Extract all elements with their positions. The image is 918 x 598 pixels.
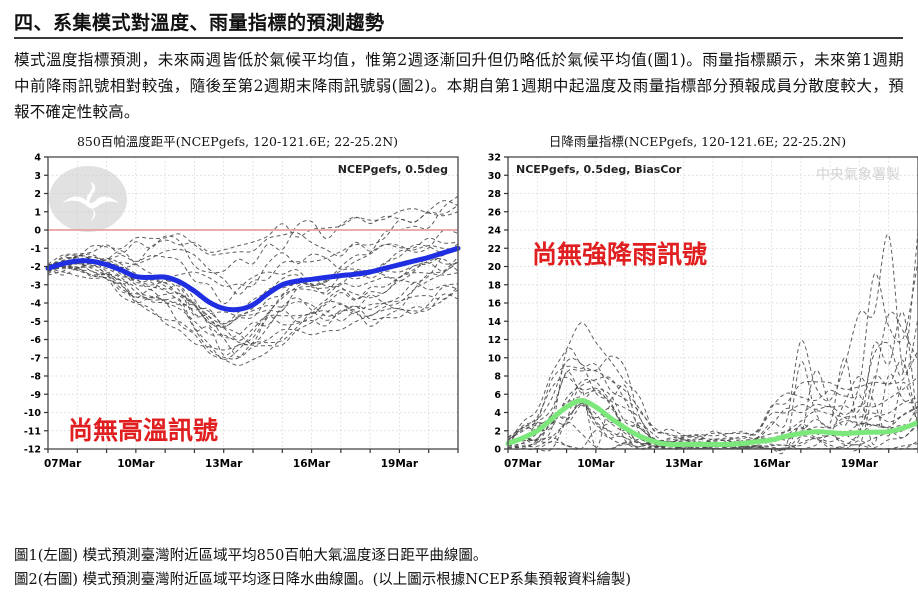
y-tick-label: -4 (30, 299, 41, 310)
y-tick-label: 0 (34, 226, 41, 237)
chart-annotation: 尚無高溫訊號 (68, 416, 218, 445)
y-tick-label: -11 (24, 426, 41, 437)
chart-title-left: 850百帕溫度距平(NCEPgefs, 120-121.6E; 22-25.2N… (10, 133, 465, 151)
y-tick-label: 10 (488, 353, 502, 364)
charts-container: 850百帕溫度距平(NCEPgefs, 120-121.6E; 22-25.2N… (10, 133, 908, 491)
x-tick-label: 16Mar (753, 458, 791, 470)
y-tick-label: 1 (34, 207, 41, 218)
caption-figure-2: 圖2(右圖) 模式預測臺灣附近區域平均逐日降水曲線圖。(以上圖示根據NCEP系集… (14, 568, 904, 592)
y-tick-label: -9 (30, 390, 41, 401)
y-tick-label: 6 (494, 390, 501, 401)
y-tick-label: 12 (488, 335, 501, 346)
title-divider (14, 37, 903, 39)
chart-annotation: 尚無強降雨訊號 (532, 240, 707, 269)
daily-rainfall-plot: 3230282624222018161412108642007Mar10Mar1… (470, 151, 918, 491)
y-tick-label: 24 (488, 226, 502, 237)
x-tick-label: 10Mar (117, 458, 155, 470)
y-tick-label: -7 (30, 353, 41, 364)
y-tick-label: -10 (24, 408, 42, 419)
figure-captions: 圖1(左圖) 模式預測臺灣附近區域平均850百帕大氣溫度逐日距平曲線圖。 圖2(… (0, 544, 918, 592)
y-tick-label: 2 (494, 426, 501, 437)
chart-corner-label: NCEPgefs, 0.5deg (338, 163, 448, 176)
y-axis: 32302826242220181614121086420 (488, 153, 508, 456)
y-tick-label: -1 (30, 244, 41, 255)
x-tick-label: 19Mar (841, 458, 879, 470)
x-tick-label: 07Mar (44, 458, 82, 470)
y-tick-label: -8 (30, 372, 41, 383)
daily-rainfall-chart: 日降雨量指標(NCEPgefs, 120-121.6E; 22-25.2N) 3… (470, 133, 918, 491)
x-tick-label: 07Mar (504, 458, 542, 470)
page-title: 四、系集模式對溫度、雨量指標的預測趨勢 (14, 8, 908, 35)
y-tick-label: 4 (34, 153, 41, 164)
y-tick-label: 0 (494, 445, 501, 456)
y-tick-label: 28 (488, 189, 502, 200)
x-tick-label: 13Mar (665, 458, 703, 470)
x-tick-label: 10Mar (577, 458, 615, 470)
y-tick-label: 26 (488, 207, 502, 218)
report-page: 四、系集模式對溫度、雨量指標的預測趨勢 模式溫度指標預測，未來兩週皆低於氣候平均… (0, 8, 918, 598)
body-paragraph: 模式溫度指標預測，未來兩週皆低於氣候平均值，惟第2週逐漸回升但仍略低於氣候平均值… (14, 47, 904, 125)
y-tick-label: 16 (488, 299, 502, 310)
x-tick-label: 13Mar (205, 458, 243, 470)
agency-watermark: 中央氣象署製 (816, 167, 900, 183)
x-tick-label: 16Mar (293, 458, 331, 470)
y-tick-label: -5 (30, 317, 41, 328)
temperature-anomaly-plot: 43210-1-2-3-4-5-6-7-8-9-10-11-1207Mar10M… (10, 151, 465, 491)
chart-corner-label: NCEPgefs, 0.5deg, BiasCor (516, 163, 682, 176)
y-axis: 43210-1-2-3-4-5-6-7-8-9-10-11-12 (24, 153, 48, 456)
y-tick-label: 22 (488, 244, 501, 255)
y-tick-label: 14 (488, 317, 502, 328)
x-tick-label: 19Mar (381, 458, 419, 470)
chart-title-right: 日降雨量指標(NCEPgefs, 120-121.6E; 22-25.2N) (470, 133, 918, 151)
y-tick-label: 32 (488, 153, 501, 164)
y-tick-label: -3 (30, 280, 41, 291)
y-tick-label: 2 (34, 189, 41, 200)
y-tick-label: 30 (488, 171, 502, 182)
cwa-logo-watermark (49, 166, 127, 232)
x-axis: 07Mar10Mar13Mar16Mar19Mar (44, 449, 458, 470)
y-tick-label: -12 (24, 445, 41, 456)
x-axis: 07Mar10Mar13Mar16Mar19Mar (504, 449, 918, 470)
y-tick-label: 20 (488, 262, 502, 273)
y-tick-label: 4 (494, 408, 501, 419)
caption-figure-1: 圖1(左圖) 模式預測臺灣附近區域平均850百帕大氣溫度逐日距平曲線圖。 (14, 544, 904, 568)
temperature-anomaly-chart: 850百帕溫度距平(NCEPgefs, 120-121.6E; 22-25.2N… (10, 133, 465, 491)
y-tick-label: -6 (30, 335, 41, 346)
y-tick-label: 8 (494, 372, 501, 383)
y-tick-label: 3 (34, 171, 41, 182)
y-tick-label: -2 (30, 262, 41, 273)
y-tick-label: 18 (488, 280, 502, 291)
